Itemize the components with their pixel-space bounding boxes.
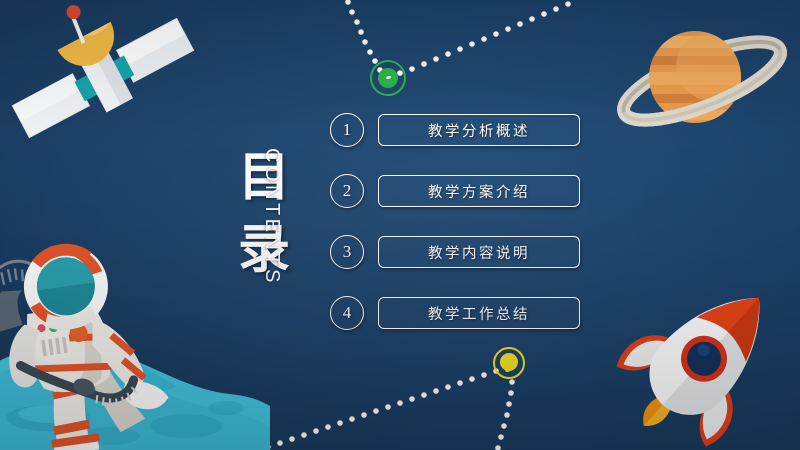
menu-label-4[interactable]: 教学工作总结 [378, 297, 580, 329]
dotted-path-bottomleft [265, 368, 499, 450]
dotted-path-bottomcenter [495, 379, 515, 450]
astronaut-icon [0, 236, 182, 450]
rocket-icon [604, 272, 800, 450]
menu-item-2[interactable]: 2 教学方案介绍 [330, 171, 580, 211]
menu-label-2[interactable]: 教学方案介绍 [378, 175, 580, 207]
saturn-planet-icon [612, 14, 792, 154]
green-node-marker [370, 60, 406, 96]
menu-number-1: 1 [330, 113, 364, 147]
yellow-node-marker [493, 347, 525, 379]
contents-menu: 1 教学分析概述 2 教学方案介绍 3 教学内容说明 4 教学工作总结 [330, 110, 580, 333]
menu-number-2: 2 [330, 174, 364, 208]
yellow-node-notch [505, 366, 510, 372]
menu-label-1[interactable]: 教学分析概述 [378, 114, 580, 146]
dotted-path-topleft [345, 0, 383, 73]
presentation-slide: 目 录 CONTENTS 1 教学分析概述 2 教学方案介绍 3 教学内容说明 … [0, 0, 800, 450]
menu-label-3[interactable]: 教学内容说明 [378, 236, 580, 268]
satellite-icon [0, 2, 214, 167]
page-title-en: CONTENTS [260, 148, 283, 286]
dotted-path-topright [397, 1, 571, 76]
menu-item-3[interactable]: 3 教学内容说明 [330, 232, 580, 272]
menu-item-1[interactable]: 1 教学分析概述 [330, 110, 580, 150]
menu-number-4: 4 [330, 296, 364, 330]
menu-number-3: 3 [330, 235, 364, 269]
menu-item-4[interactable]: 4 教学工作总结 [330, 293, 580, 333]
